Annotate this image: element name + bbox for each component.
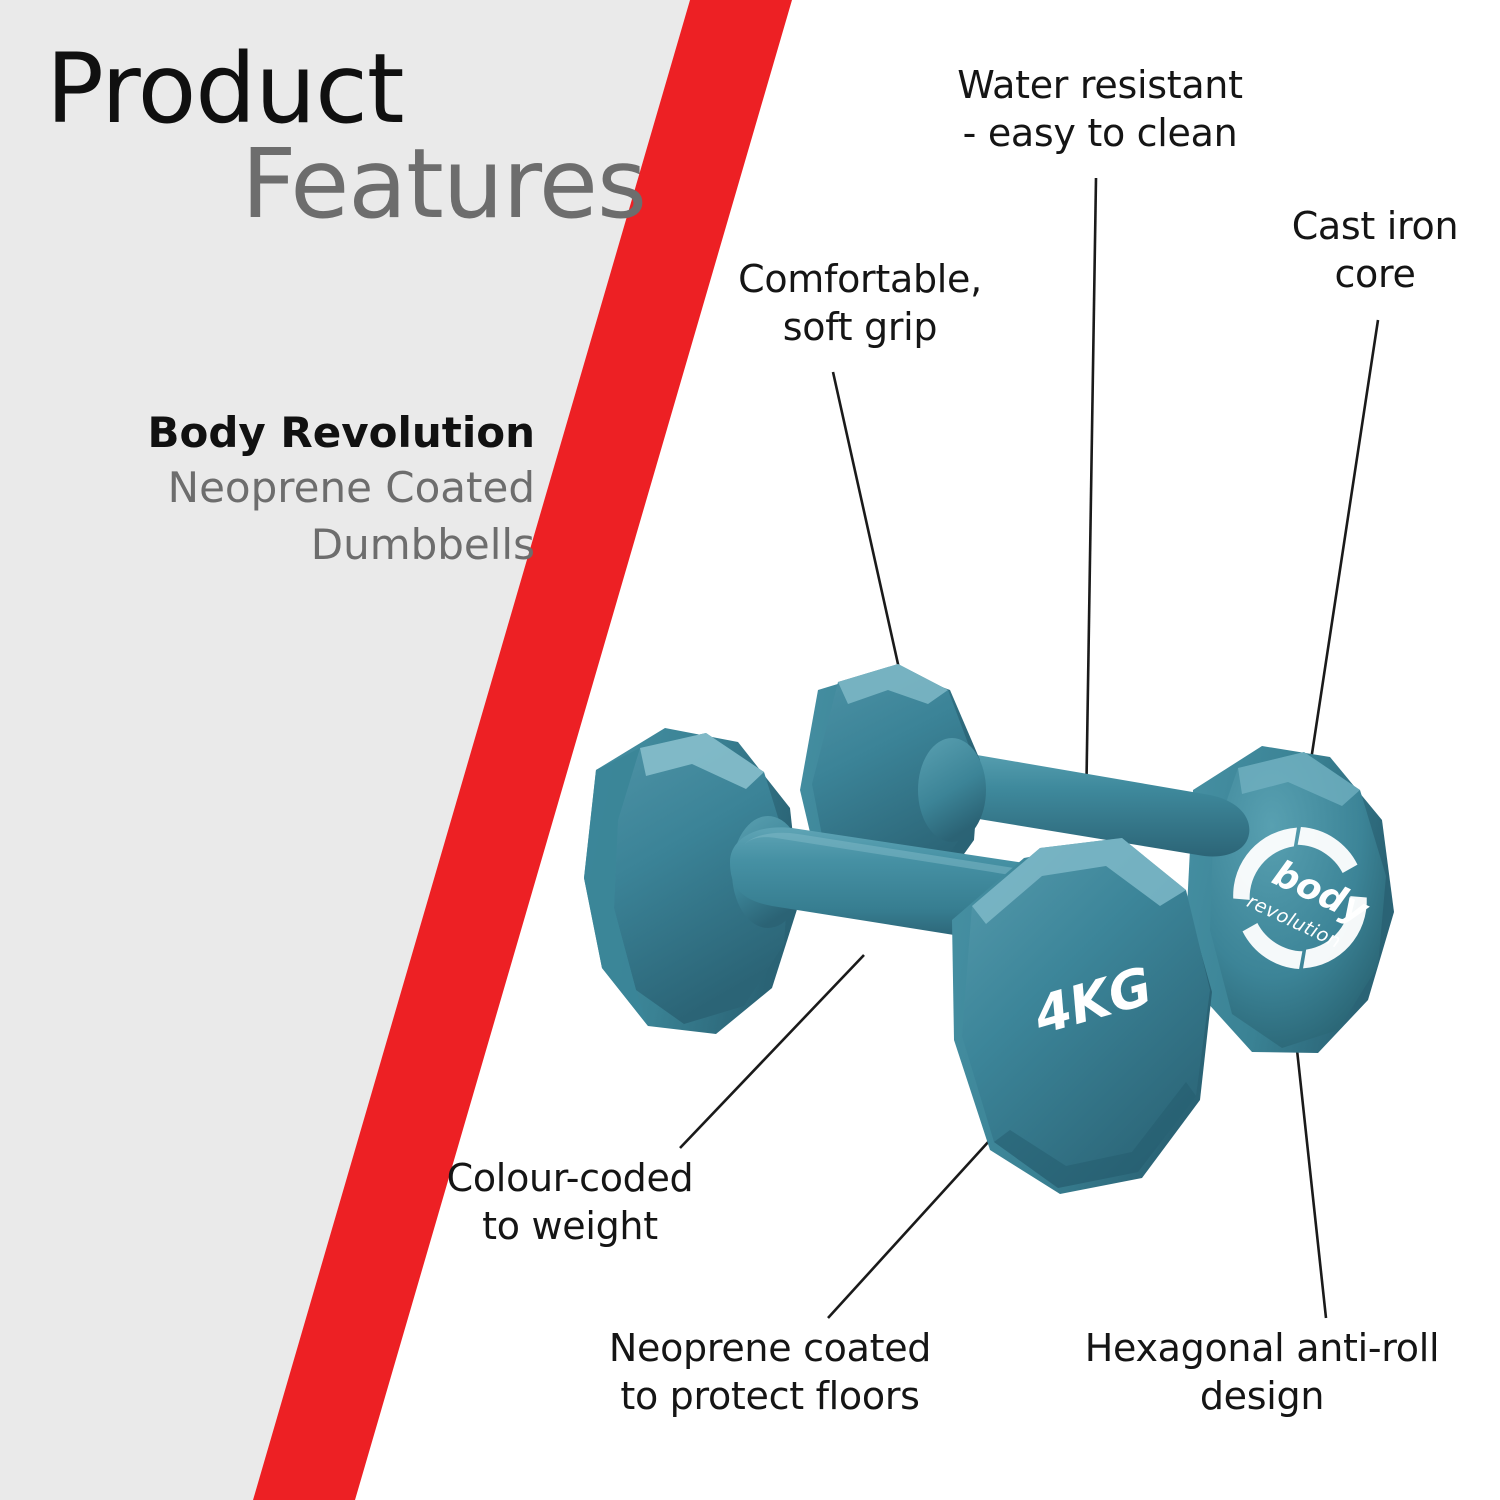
leader-line-neoprene-coated (828, 1118, 1010, 1318)
leader-line-hexagonal-anti-roll (1294, 1022, 1326, 1318)
callout-cast-iron-core: Cast iron core (1255, 203, 1495, 299)
leader-line-cast-iron-core (1308, 320, 1378, 780)
callout-colour-coded-to-weight: Colour-coded to weight (420, 1155, 720, 1251)
callout-water-resistant: Water resistant - easy to clean (915, 62, 1285, 158)
leader-line-water-resistant (1086, 178, 1096, 812)
callout-comfortable-soft-grip: Comfortable, soft grip (700, 256, 1020, 352)
callout-neoprene-coated-to-protect-floors: Neoprene coated to protect floors (570, 1325, 970, 1421)
rear-right-hex-head: body revolution (1187, 746, 1394, 1053)
callout-hexagonal-anti-roll-design: Hexagonal anti-roll design (1052, 1325, 1472, 1421)
rear-left-collar (918, 738, 986, 842)
leader-line-comfortable-soft-grip (833, 372, 906, 700)
front-right-hex-head: 4KG (952, 838, 1212, 1194)
product-features-infographic: Product Features Body Revolution Neopren… (0, 0, 1500, 1500)
